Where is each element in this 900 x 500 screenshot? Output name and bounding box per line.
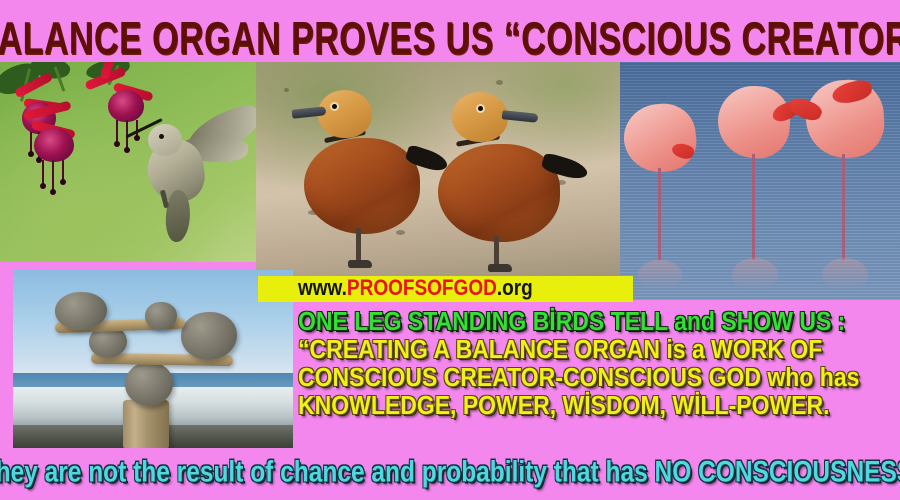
url-suffix: .org: [497, 276, 533, 300]
stamen-shape: [52, 160, 54, 192]
duck-foot: [348, 260, 372, 268]
message-line-3: CONSCIOUS CREATOR-CONSCIOUS GOD who has: [298, 362, 898, 391]
poster-title-bar: BALANCE ORGAN PROVES US “CONSCIOUS CREAT…: [0, 16, 900, 62]
duck-body: [304, 138, 420, 234]
website-url: www.PROOFSOFGOD.org: [298, 276, 533, 301]
message-block: ONE LEG STANDING BİRDS TELL and SHOW US …: [298, 308, 898, 420]
bird-head: [148, 124, 182, 156]
stamen-shape: [62, 160, 64, 182]
duck-eye: [332, 104, 337, 109]
flamingo-leg: [752, 154, 755, 260]
duck-eye: [478, 106, 483, 111]
balance-stone: [125, 362, 173, 406]
poster-root: BALANCE ORGAN PROVES US “CONSCIOUS CREAT…: [0, 0, 900, 500]
balance-stone: [181, 312, 237, 360]
stamen-shape: [116, 120, 118, 144]
bird-eye: [159, 134, 164, 139]
bottom-caption-bar: they are not the result of chance and pr…: [0, 452, 900, 492]
flamingo-leg: [842, 154, 845, 260]
flamingo-reflection: [822, 258, 868, 292]
url-domain: PROOFSOFGOD: [347, 276, 497, 300]
ducks-photo: [256, 62, 620, 276]
hummingbird-photo: [0, 62, 256, 262]
duck-head: [318, 90, 372, 138]
ground-speck: [284, 88, 289, 92]
message-line-4: KNOWLEDGE, POWER, WİSDOM, WİLL-POWER.: [298, 390, 898, 419]
page-title: BALANCE ORGAN PROVES US “CONSCIOUS CREAT…: [0, 13, 900, 64]
stamen-shape: [42, 160, 44, 186]
balance-stones-photo: [13, 270, 293, 448]
duck-head: [452, 92, 508, 142]
duck-leg: [356, 228, 361, 264]
duck-body: [438, 144, 560, 242]
message-line-2: “CREATING A BALANCE ORGAN is a WORK OF: [298, 334, 898, 363]
flamingo-reflection: [732, 258, 778, 292]
flower-bell: [108, 90, 144, 122]
flamingo-reflection: [638, 260, 682, 290]
bottom-caption: they are not the result of chance and pr…: [0, 455, 900, 489]
balance-stone: [145, 302, 177, 330]
ground-speck: [396, 230, 405, 235]
flamingo-leg: [658, 168, 661, 260]
message-line-1: ONE LEG STANDING BİRDS TELL and SHOW US …: [298, 306, 898, 335]
wooden-post: [123, 400, 169, 448]
balance-stone: [55, 292, 107, 330]
ground-speck: [496, 80, 503, 85]
duck-foot: [488, 264, 512, 272]
stamen-shape: [30, 132, 32, 154]
flower-bell: [34, 128, 74, 162]
url-prefix: www.: [298, 276, 347, 300]
flamingos-photo: [620, 62, 900, 300]
website-url-banner[interactable]: www.PROOFSOFGOD.org: [258, 276, 633, 302]
